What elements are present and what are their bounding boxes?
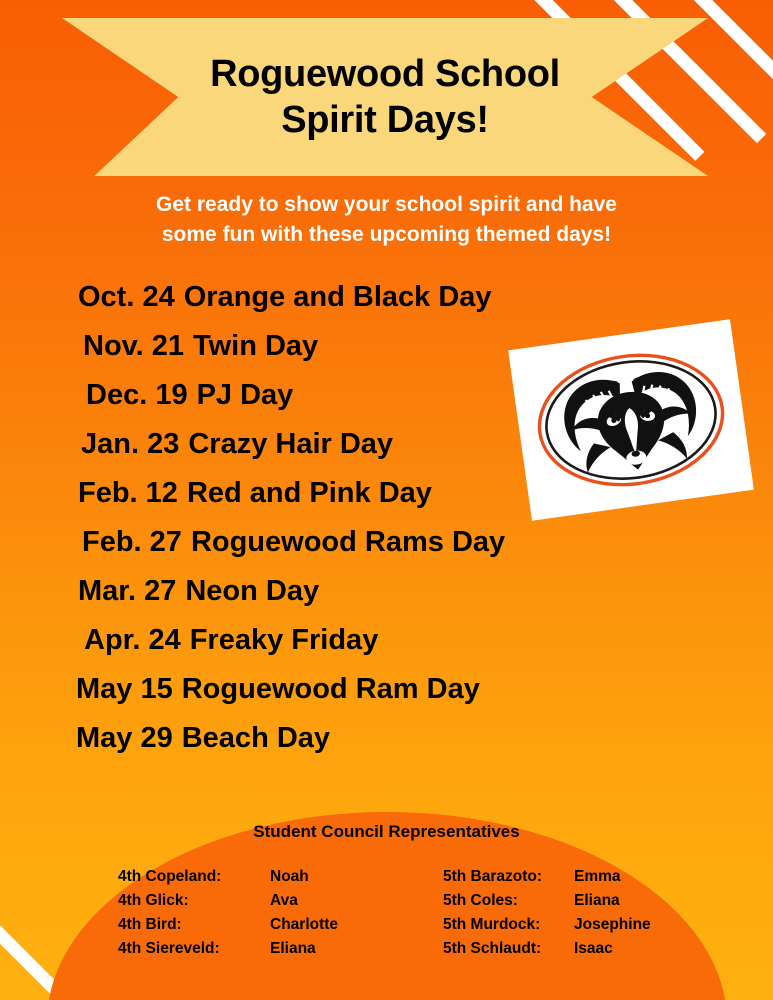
student-council-heading: Student Council Representatives — [0, 822, 773, 842]
representative-student: Ava — [270, 892, 298, 910]
spirit-day-theme: Neon Day — [185, 577, 319, 606]
title-line-2: Spirit Days! — [281, 97, 489, 143]
spirit-day-row: Feb. 27 Roguewood Rams Day — [0, 518, 560, 567]
spirit-day-date: Feb. 12 — [78, 479, 178, 508]
representative-teacher: 5th Coles: — [443, 892, 574, 910]
spirit-day-row: Dec. 19 PJ Day — [0, 371, 560, 420]
subtitle-line-2: some fun with these upcoming themed days… — [90, 220, 683, 250]
spirit-day-date: May 29 — [76, 724, 173, 753]
spirit-day-theme: Beach Day — [182, 724, 330, 753]
representative-student: Noah — [270, 868, 309, 886]
representative-row: 5th Barazoto: Emma — [443, 868, 651, 892]
representative-teacher: 4th Glick: — [118, 892, 270, 910]
representative-student: Eliana — [574, 892, 620, 910]
representative-teacher: 4th Bird: — [118, 916, 270, 934]
representative-row: 5th Coles: Eliana — [443, 892, 651, 916]
spirit-day-row: Apr. 24 Freaky Friday — [0, 616, 560, 665]
ram-mascot-logo-card — [508, 319, 754, 521]
poster-subtitle: Get ready to show your school spirit and… — [90, 190, 683, 251]
spirit-day-date: Feb. 27 — [82, 528, 182, 557]
representative-row: 5th Murdock: Josephine — [443, 916, 651, 940]
spirit-day-theme: Orange and Black Day — [184, 283, 492, 312]
subtitle-line-1: Get ready to show your school spirit and… — [90, 190, 683, 220]
representative-teacher: 5th Barazoto: — [443, 868, 574, 886]
spirit-day-theme: Roguewood Rams Day — [191, 528, 505, 557]
student-council-representatives: 4th Copeland: Noah 4th Glick: Ava 4th Bi… — [0, 868, 773, 964]
spirit-day-row: Jan. 23 Crazy Hair Day — [0, 420, 560, 469]
spirit-day-theme: Roguewood Ram Day — [182, 675, 480, 704]
representative-teacher: 4th Copeland: — [118, 868, 270, 886]
spirit-day-date: Nov. 21 — [83, 332, 184, 361]
representative-teacher: 5th Schlaudt: — [443, 940, 574, 958]
title-line-1: Roguewood School — [210, 51, 560, 97]
spirit-day-theme: Crazy Hair Day — [188, 430, 393, 459]
representative-row: 4th Glick: Ava — [118, 892, 398, 916]
spirit-day-date: Oct. 24 — [78, 283, 175, 312]
spirit-days-list: Oct. 24 Orange and Black Day Nov. 21 Twi… — [0, 273, 560, 763]
representative-row: 4th Siereveld: Eliana — [118, 940, 398, 964]
representative-row: 4th Bird: Charlotte — [118, 916, 398, 940]
spirit-day-theme: Freaky Friday — [190, 626, 379, 655]
representative-student: Isaac — [574, 940, 613, 958]
spirit-day-date: Apr. 24 — [84, 626, 181, 655]
spirit-day-date: Dec. 19 — [86, 381, 188, 410]
poster-title: Roguewood School Spirit Days! — [62, 18, 708, 176]
grade-4-representatives-column: 4th Copeland: Noah 4th Glick: Ava 4th Bi… — [118, 868, 398, 964]
spirit-day-date: May 15 — [76, 675, 173, 704]
representative-student: Emma — [574, 868, 621, 886]
representative-row: 5th Schlaudt: Isaac — [443, 940, 651, 964]
spirit-day-theme: Red and Pink Day — [187, 479, 432, 508]
spirit-day-date: Jan. 23 — [81, 430, 179, 459]
ram-mascot-icon — [508, 319, 754, 521]
spirit-day-row: Mar. 27 Neon Day — [0, 567, 560, 616]
grade-5-representatives-column: 5th Barazoto: Emma 5th Coles: Eliana 5th… — [443, 868, 651, 964]
spirit-day-row: Nov. 21 Twin Day — [0, 322, 560, 371]
spirit-day-theme: Twin Day — [193, 332, 318, 361]
spirit-day-row: May 29 Beach Day — [0, 714, 560, 763]
spirit-days-poster: Roguewood School Spirit Days! Get ready … — [0, 0, 773, 1000]
representative-student: Charlotte — [270, 916, 338, 934]
representative-student: Eliana — [270, 940, 316, 958]
spirit-day-row: Oct. 24 Orange and Black Day — [0, 273, 560, 322]
spirit-day-row: May 15 Roguewood Ram Day — [0, 665, 560, 714]
representative-row: 4th Copeland: Noah — [118, 868, 398, 892]
representative-teacher: 5th Murdock: — [443, 916, 574, 934]
representative-student: Josephine — [574, 916, 651, 934]
spirit-day-row: Feb. 12 Red and Pink Day — [0, 469, 560, 518]
spirit-day-date: Mar. 27 — [78, 577, 176, 606]
representative-teacher: 4th Siereveld: — [118, 940, 270, 958]
spirit-day-theme: PJ Day — [197, 381, 294, 410]
